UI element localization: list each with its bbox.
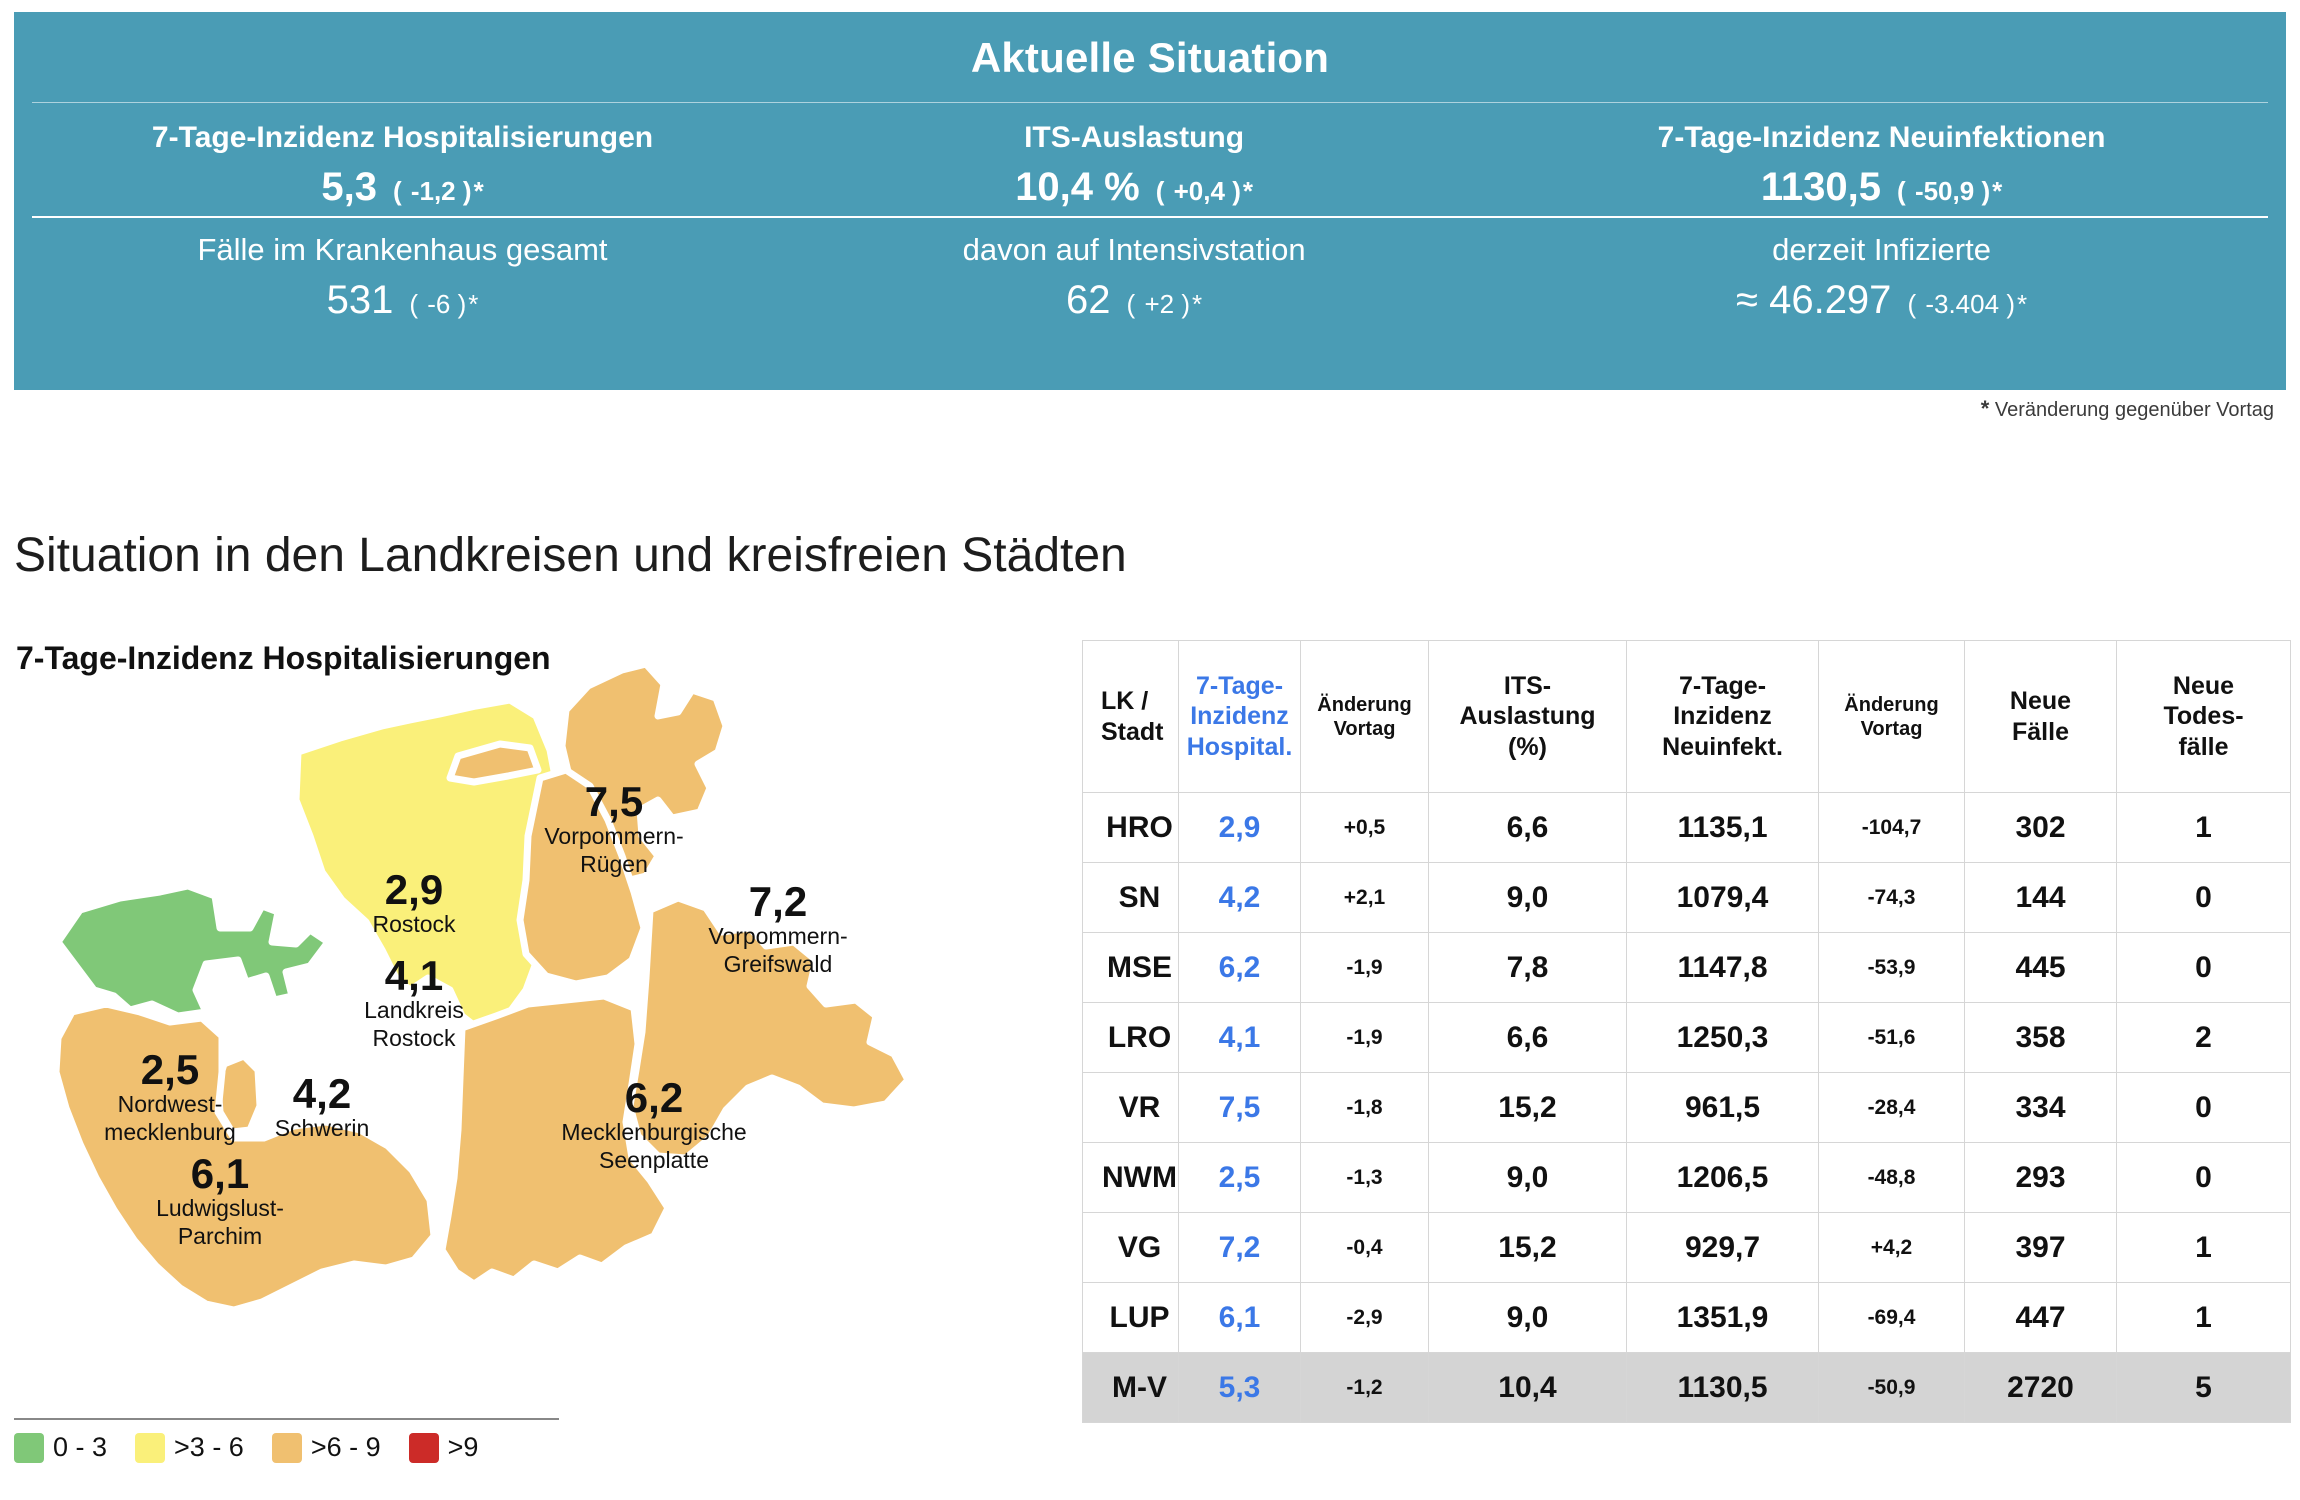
cell-code: LUP (1083, 1283, 1179, 1353)
map-value-nwm: 2,5 (141, 1046, 199, 1093)
cell-neu_chg: -50,9 (1819, 1353, 1965, 1423)
table-row[interactable]: VG7,2-0,415,2929,7+4,23971 (1083, 1213, 2291, 1283)
col-header-hospitalisierung[interactable]: 7-Tage- Inzidenz Hospital. (1179, 641, 1301, 793)
cell-hosp_chg: -1,3 (1301, 1143, 1429, 1213)
summary-top-row: 7-Tage-Inzidenz Hospitalisierungen 5,3( … (14, 103, 2286, 210)
legend-item-2: >6 - 9 (272, 1432, 381, 1463)
summary-value: 1130,5 (1761, 165, 1881, 209)
cell-its: 6,6 (1429, 793, 1627, 863)
summary-value-group: ≈ 46.297( -3.404 )* (1477, 268, 2286, 323)
table-body: HRO2,9+0,56,61135,1-104,73021SN4,2+2,19,… (1083, 793, 2291, 1423)
map-name-sn: Schwerin (275, 1115, 370, 1141)
cell-its: 15,2 (1429, 1073, 1627, 1143)
summary-value: 531 (327, 278, 394, 322)
summary-label: 7-Tage-Inzidenz Hospitalisierungen (14, 103, 791, 155)
map-region-nwm[interactable] (58, 886, 328, 1016)
cell-neu_chg: +4,2 (1819, 1213, 1965, 1283)
map-value-vg: 7,2 (749, 878, 807, 925)
cell-cases: 358 (1965, 1003, 2117, 1073)
map-name-mse-2: Seenplatte (599, 1147, 709, 1173)
map-name-nwm-1: Nordwest- (118, 1091, 223, 1117)
summary-delta: ( -3.404 )* (1891, 289, 2027, 319)
footnote: * Veränderung gegenüber Vortag (1981, 396, 2274, 422)
cell-hosp_chg: +0,5 (1301, 793, 1429, 863)
summary-delta: ( +0,4 )* (1140, 176, 1253, 206)
cell-neu_chg: -48,8 (1819, 1143, 1965, 1213)
summary-metric-hospitalisierungen: 7-Tage-Inzidenz Hospitalisierungen 5,3( … (14, 103, 791, 210)
table-header: LK / Stadt 7-Tage- Inzidenz Hospital. Än… (1083, 641, 2291, 793)
col-header-neue-todesfaelle[interactable]: Neue Todes- fälle (2117, 641, 2291, 793)
cell-neu_chg: -104,7 (1819, 793, 1965, 863)
summary-value: 62 (1066, 278, 1111, 322)
map-svg: 2,5 Nordwest- mecklenburg 2,9 Rostock 4,… (10, 660, 1080, 1400)
cell-code: LRO (1083, 1003, 1179, 1073)
cell-deaths: 1 (2117, 1213, 2291, 1283)
legend-swatch-yellow (135, 1433, 165, 1463)
table-row[interactable]: LUP6,1-2,99,01351,9-69,44471 (1083, 1283, 2291, 1353)
cell-hosp: 4,2 (1179, 863, 1301, 933)
summary-title: Aktuelle Situation (14, 12, 2286, 82)
cell-neu: 1147,8 (1627, 933, 1819, 1003)
col-header-neu-change[interactable]: Änderung Vortag (1819, 641, 1965, 793)
cell-code: NWM (1083, 1143, 1179, 1213)
cell-its: 7,8 (1429, 933, 1627, 1003)
map-value-mse: 6,2 (625, 1074, 683, 1121)
summary-delta: ( -1,2 )* (377, 176, 484, 206)
summary-metric-derzeit-infizierte: derzeit Infizierte ≈ 46.297( -3.404 )* (1477, 218, 2286, 323)
summary-delta: ( -6 )* (393, 289, 478, 319)
dashboard-page: Aktuelle Situation 7-Tage-Inzidenz Hospi… (0, 0, 2300, 1500)
legend-swatch-orange (272, 1433, 302, 1463)
cell-hosp_chg: -0,4 (1301, 1213, 1429, 1283)
map-value-vr: 7,5 (585, 778, 643, 825)
legend-item-3: >9 (409, 1432, 479, 1463)
section-title: Situation in den Landkreisen und kreisfr… (14, 528, 1127, 583)
summary-metric-faelle-krankenhaus: Fälle im Krankenhaus gesamt 531( -6 )* (14, 218, 791, 323)
legend-item-0: 0 - 3 (14, 1432, 107, 1463)
map-name-vr-2: Rügen (580, 851, 648, 877)
summary-value-group: 1130,5( -50,9 )* (1477, 155, 2286, 210)
cell-cases: 302 (1965, 793, 2117, 863)
table-header-row: LK / Stadt 7-Tage- Inzidenz Hospital. Än… (1083, 641, 2291, 793)
table-row[interactable]: VR7,5-1,815,2961,5-28,43340 (1083, 1073, 2291, 1143)
map-legend: 0 - 3 >3 - 6 >6 - 9 >9 (14, 1418, 559, 1463)
cell-hosp_chg: -1,8 (1301, 1073, 1429, 1143)
cell-hosp: 6,2 (1179, 933, 1301, 1003)
cell-neu: 961,5 (1627, 1073, 1819, 1143)
summary-label: 7-Tage-Inzidenz Neuinfektionen (1477, 103, 2286, 155)
cell-hosp_chg: +2,1 (1301, 863, 1429, 933)
cell-deaths: 2 (2117, 1003, 2291, 1073)
cell-neu: 1250,3 (1627, 1003, 1819, 1073)
map-name-mse-1: Mecklenburgische (561, 1119, 746, 1145)
cell-its: 9,0 (1429, 1143, 1627, 1213)
cell-code: M-V (1083, 1353, 1179, 1423)
choropleth-map: 2,5 Nordwest- mecklenburg 2,9 Rostock 4,… (10, 660, 1080, 1400)
summary-bottom-row: Fälle im Krankenhaus gesamt 531( -6 )* d… (14, 218, 2286, 323)
summary-label: davon auf Intensivstation (791, 218, 1477, 268)
summary-panel: Aktuelle Situation 7-Tage-Inzidenz Hospi… (14, 12, 2286, 390)
summary-metric-neuinfektionen: 7-Tage-Inzidenz Neuinfektionen 1130,5( -… (1477, 103, 2286, 210)
map-name-lup-1: Ludwigslust- (156, 1195, 284, 1221)
cell-neu: 1206,5 (1627, 1143, 1819, 1213)
summary-value-group: 62( +2 )* (791, 268, 1477, 323)
map-name-nwm-2: mecklenburg (104, 1119, 236, 1145)
table-row[interactable]: SN4,2+2,19,01079,4-74,31440 (1083, 863, 2291, 933)
col-header-hosp-change[interactable]: Änderung Vortag (1301, 641, 1429, 793)
map-name-vg-1: Vorpommern- (708, 923, 847, 949)
map-name-vr-1: Vorpommern- (544, 823, 683, 849)
cell-neu: 1130,5 (1627, 1353, 1819, 1423)
legend-label-2: >6 - 9 (311, 1432, 381, 1463)
map-name-lup-2: Parchim (178, 1223, 262, 1249)
cell-hosp: 5,3 (1179, 1353, 1301, 1423)
col-header-its[interactable]: ITS- Auslastung (%) (1429, 641, 1627, 793)
cell-its: 10,4 (1429, 1353, 1627, 1423)
cell-deaths: 1 (2117, 793, 2291, 863)
legend-swatch-red (409, 1433, 439, 1463)
summary-value-group: 531( -6 )* (14, 268, 791, 323)
cell-code: VG (1083, 1213, 1179, 1283)
summary-value: 5,3 (321, 165, 377, 209)
cell-code: MSE (1083, 933, 1179, 1003)
cell-hosp: 7,5 (1179, 1073, 1301, 1143)
cell-cases: 144 (1965, 863, 2117, 933)
cell-deaths: 0 (2117, 933, 2291, 1003)
cell-its: 9,0 (1429, 1283, 1627, 1353)
footnote-text: Veränderung gegenüber Vortag (1995, 399, 2274, 421)
cell-neu: 1079,4 (1627, 863, 1819, 933)
map-value-lro: 4,1 (385, 952, 443, 999)
cell-neu_chg: -28,4 (1819, 1073, 1965, 1143)
cell-hosp: 7,2 (1179, 1213, 1301, 1283)
cell-deaths: 0 (2117, 1143, 2291, 1213)
cell-hosp_chg: -1,9 (1301, 933, 1429, 1003)
cell-deaths: 1 (2117, 1283, 2291, 1353)
col-header-district[interactable]: LK / Stadt (1083, 641, 1179, 793)
cell-code: HRO (1083, 793, 1179, 863)
cell-its: 9,0 (1429, 863, 1627, 933)
cell-code: VR (1083, 1073, 1179, 1143)
summary-metric-intensivstation: davon auf Intensivstation 62( +2 )* (791, 218, 1477, 323)
col-header-neuinfektionen[interactable]: 7-Tage- Inzidenz Neuinfekt. (1627, 641, 1819, 793)
cell-neu_chg: -51,6 (1819, 1003, 1965, 1073)
cell-cases: 293 (1965, 1143, 2117, 1213)
cell-its: 6,6 (1429, 1003, 1627, 1073)
legend-label-1: >3 - 6 (174, 1432, 244, 1463)
cell-cases: 2720 (1965, 1353, 2117, 1423)
legend-label-3: >9 (448, 1432, 479, 1463)
cell-deaths: 5 (2117, 1353, 2291, 1423)
summary-value: ≈ 46.297 (1736, 278, 1891, 322)
map-value-sn: 4,2 (293, 1070, 351, 1117)
cell-cases: 334 (1965, 1073, 2117, 1143)
cell-hosp_chg: -1,2 (1301, 1353, 1429, 1423)
legend-item-1: >3 - 6 (135, 1432, 244, 1463)
cell-deaths: 0 (2117, 1073, 2291, 1143)
cell-cases: 447 (1965, 1283, 2117, 1353)
summary-delta: ( -50,9 )* (1881, 176, 2002, 206)
cell-hosp: 6,1 (1179, 1283, 1301, 1353)
map-value-hro: 2,9 (385, 866, 443, 913)
cell-code: SN (1083, 863, 1179, 933)
summary-label: ITS-Auslastung (791, 103, 1477, 155)
legend-label-0: 0 - 3 (53, 1432, 107, 1463)
summary-value-group: 5,3( -1,2 )* (14, 155, 791, 210)
table-row[interactable]: HRO2,9+0,56,61135,1-104,73021 (1083, 793, 2291, 863)
table-row[interactable]: MSE6,2-1,97,81147,8-53,94450 (1083, 933, 2291, 1003)
cell-neu_chg: -69,4 (1819, 1283, 1965, 1353)
cell-hosp_chg: -1,9 (1301, 1003, 1429, 1073)
summary-value-group: 10,4 %( +0,4 )* (791, 155, 1477, 210)
cell-hosp_chg: -2,9 (1301, 1283, 1429, 1353)
col-header-neue-faelle[interactable]: Neue Fälle (1965, 641, 2117, 793)
map-name-lro-2: Rostock (372, 1025, 456, 1051)
cell-its: 15,2 (1429, 1213, 1627, 1283)
cell-cases: 397 (1965, 1213, 2117, 1283)
table-row[interactable]: LRO4,1-1,96,61250,3-51,63582 (1083, 1003, 2291, 1073)
cell-hosp: 2,5 (1179, 1143, 1301, 1213)
summary-label: Fälle im Krankenhaus gesamt (14, 218, 791, 268)
cell-deaths: 0 (2117, 863, 2291, 933)
cell-neu: 929,7 (1627, 1213, 1819, 1283)
cell-neu_chg: -53,9 (1819, 933, 1965, 1003)
map-name-hro: Rostock (372, 911, 456, 937)
map-name-lro-1: Landkreis (364, 997, 464, 1023)
legend-swatch-green (14, 1433, 44, 1463)
summary-label: derzeit Infizierte (1477, 218, 2286, 268)
district-table-wrapper: LK / Stadt 7-Tage- Inzidenz Hospital. Än… (1082, 640, 2290, 1423)
summary-delta: ( +2 )* (1111, 289, 1203, 319)
cell-neu_chg: -74,3 (1819, 863, 1965, 933)
cell-hosp: 2,9 (1179, 793, 1301, 863)
summary-metric-its-auslastung: ITS-Auslastung 10,4 %( +0,4 )* (791, 103, 1477, 210)
district-table: LK / Stadt 7-Tage- Inzidenz Hospital. Än… (1082, 640, 2291, 1423)
map-value-lup: 6,1 (191, 1150, 249, 1197)
cell-neu: 1135,1 (1627, 793, 1819, 863)
cell-hosp: 4,1 (1179, 1003, 1301, 1073)
summary-value: 10,4 % (1015, 165, 1140, 209)
table-row[interactable]: NWM2,5-1,39,01206,5-48,82930 (1083, 1143, 2291, 1213)
cell-neu: 1351,9 (1627, 1283, 1819, 1353)
cell-cases: 445 (1965, 933, 2117, 1003)
table-row-total[interactable]: M-V5,3-1,210,41130,5-50,927205 (1083, 1353, 2291, 1423)
footnote-star: * (1981, 396, 1990, 421)
map-name-vg-2: Greifswald (724, 951, 833, 977)
